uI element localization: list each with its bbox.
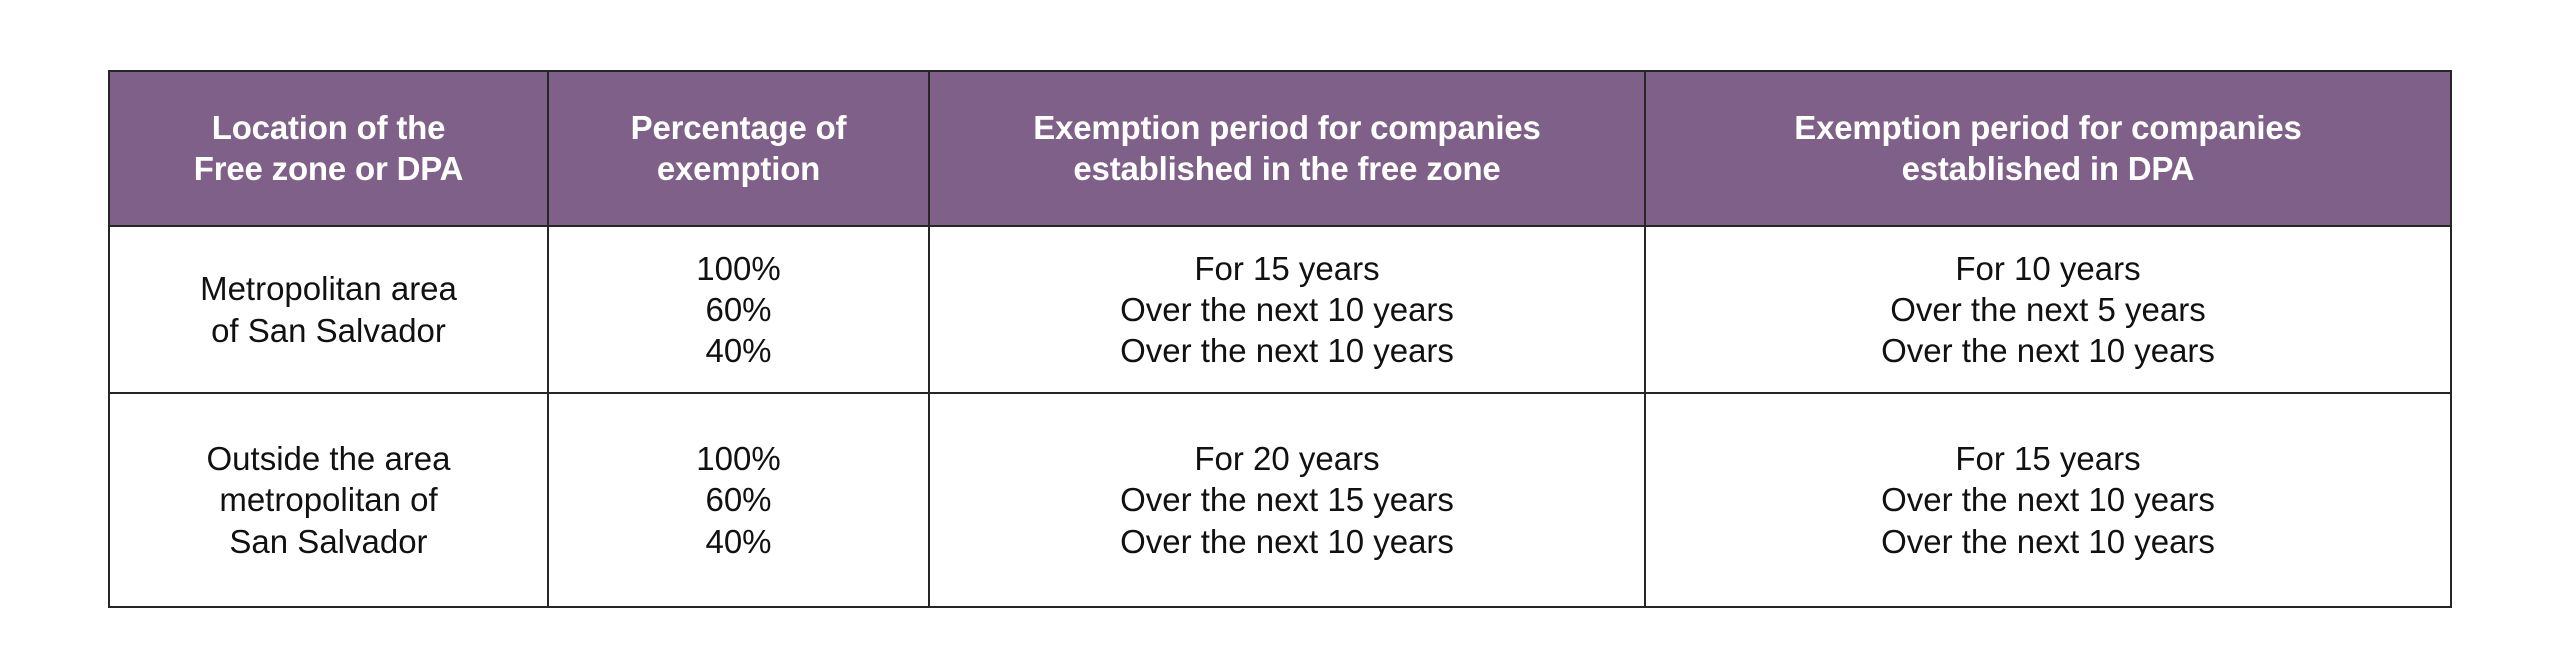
cell-line: Over the next 10 years [1658,521,2438,562]
cell-line: 100% [561,438,916,479]
cell-free-zone-period: For 20 years Over the next 15 years Over… [929,393,1645,607]
cell-line: 40% [561,521,916,562]
cell-location: Metropolitan area of San Salvador [109,226,548,393]
header-line: Exemption period for companies [1656,108,2440,148]
cell-line: 60% [561,289,916,330]
header-line: Percentage of [559,108,918,148]
header-line: Exemption period for companies [940,108,1634,148]
cell-line: 60% [561,479,916,520]
cell-line: Over the next 10 years [942,289,1632,330]
cell-line: Over the next 15 years [942,479,1632,520]
column-header-location: Location of the Free zone or DPA [109,71,548,226]
cell-line: Over the next 10 years [942,521,1632,562]
cell-line: Over the next 5 years [1658,289,2438,330]
cell-line: Over the next 10 years [942,330,1632,371]
cell-line: 40% [561,330,916,371]
cell-percentage: 100% 60% 40% [548,393,929,607]
page-canvas: Location of the Free zone or DPA Percent… [0,0,2560,664]
cell-line: Over the next 10 years [1658,330,2438,371]
cell-dpa-period: For 15 years Over the next 10 years Over… [1645,393,2451,607]
table-row: Outside the area metropolitan of San Sal… [109,393,2451,607]
header-line: Location of the [120,108,537,148]
header-row: Location of the Free zone or DPA Percent… [109,71,2451,226]
table-body: Metropolitan area of San Salvador 100% 6… [109,226,2451,607]
cell-line: For 10 years [1658,248,2438,289]
table-row: Metropolitan area of San Salvador 100% 6… [109,226,2451,393]
cell-line: For 15 years [942,248,1632,289]
cell-location: Outside the area metropolitan of San Sal… [109,393,548,607]
cell-free-zone-period: For 15 years Over the next 10 years Over… [929,226,1645,393]
column-header-percentage: Percentage of exemption [548,71,929,226]
header-line: established in DPA [1656,149,2440,189]
cell-line: Outside the area [122,438,535,479]
cell-line: For 20 years [942,438,1632,479]
cell-line: San Salvador [122,521,535,562]
column-header-free-zone-period: Exemption period for companies establish… [929,71,1645,226]
cell-line: For 15 years [1658,438,2438,479]
cell-dpa-period: For 10 years Over the next 5 years Over … [1645,226,2451,393]
cell-line: Over the next 10 years [1658,479,2438,520]
exemption-periods-table: Location of the Free zone or DPA Percent… [108,70,2452,608]
table-header: Location of the Free zone or DPA Percent… [109,71,2451,226]
cell-percentage: 100% 60% 40% [548,226,929,393]
header-line: Free zone or DPA [120,149,537,189]
cell-line: 100% [561,248,916,289]
header-line: established in the free zone [940,149,1634,189]
column-header-dpa-period: Exemption period for companies establish… [1645,71,2451,226]
cell-line: metropolitan of [122,479,535,520]
header-line: exemption [559,149,918,189]
cell-line: of San Salvador [122,310,535,351]
cell-line: Metropolitan area [122,268,535,309]
